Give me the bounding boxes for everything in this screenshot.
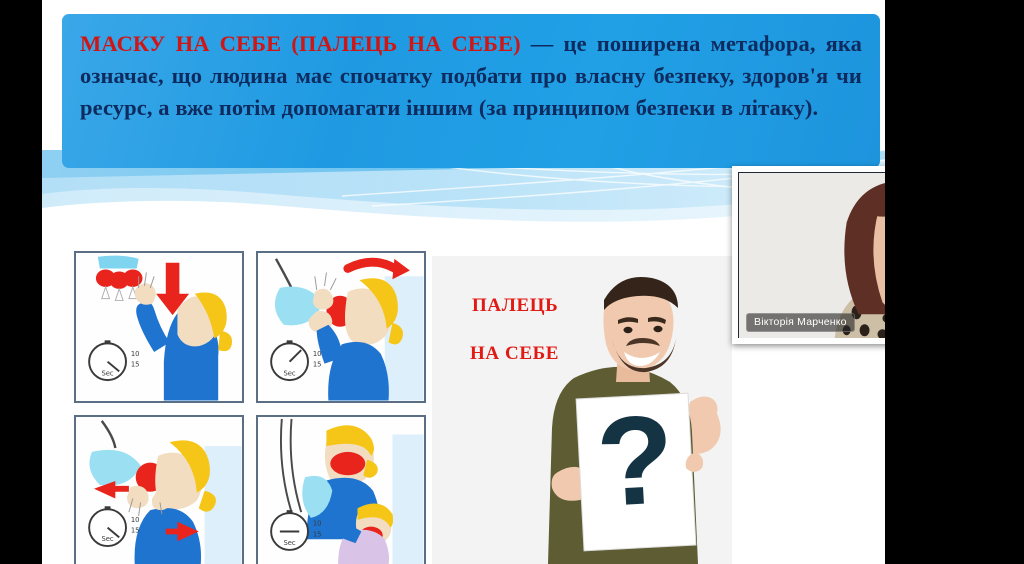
photo-caption-line-2: НА СЕБЕ [470,343,559,365]
participant-name-badge: Вікторія Марченко [746,313,855,332]
quote-highlight: МАСКУ НА СЕБЕ (ПАЛЕЦЬ НА СЕБЕ) [80,31,521,56]
letterbox-bar-left [0,0,42,564]
svg-text:10: 10 [313,519,322,527]
photo-caption-line-1: ПАЛЕЦЬ [472,295,558,317]
svg-text:10: 10 [313,350,322,358]
svg-text:10: 10 [131,350,140,358]
svg-text:15: 15 [131,526,140,534]
instruction-panel-2: Sec 10 15 [256,251,426,403]
quote-paragraph: МАСКУ НА СЕБЕ (ПАЛЕЦЬ НА СЕБЕ) — це поши… [80,28,862,124]
svg-text:15: 15 [131,361,140,369]
oxygen-mask-instruction-grid: Sec 10 15 [74,251,426,564]
svg-text:15: 15 [313,530,322,538]
svg-text:Sec: Sec [101,369,113,377]
question-mark-glyph: ? [593,388,677,533]
svg-text:Sec: Sec [283,369,295,377]
instruction-panel-3: Sec 10 15 [74,415,244,564]
screen-share-frame: МАСКУ НА СЕБЕ (ПАЛЕЦЬ НА СЕБЕ) — це поши… [0,0,1024,564]
quote-text-box: МАСКУ НА СЕБЕ (ПАЛЕЦЬ НА СЕБЕ) — це поши… [62,14,880,168]
quote-dash: — [521,31,564,56]
svg-text:10: 10 [131,515,140,523]
svg-text:15: 15 [313,361,322,369]
instruction-panel-1: Sec 10 15 [74,251,244,403]
man-pointing-photo: ? ПАЛЕЦЬ НА СЕБЕ [432,256,732,564]
letterbox-bar-right [885,0,1024,564]
instruction-panel-4: Sec 10 15 [256,415,426,564]
svg-text:Sec: Sec [101,535,113,543]
svg-text:Sec: Sec [283,539,295,547]
